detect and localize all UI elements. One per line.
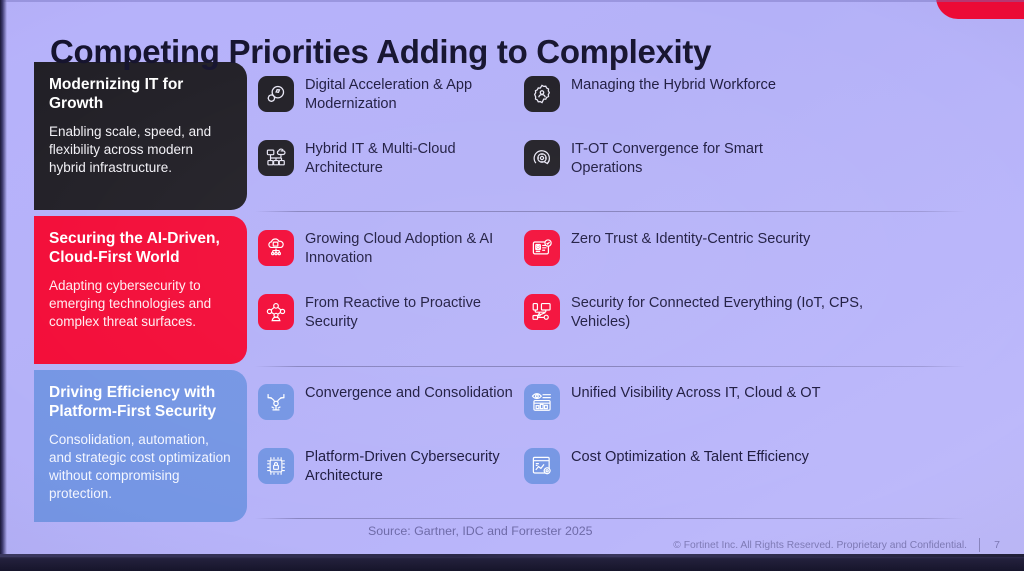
list-item[interactable]: From Reactive to Proactive Security — [258, 292, 520, 356]
list-item[interactable]: Zero Trust & Identity-Centric Security — [524, 228, 978, 292]
category-panel-title: Securing the AI-Driven, Cloud-First Worl… — [49, 230, 232, 268]
connected-devices-icon — [524, 294, 560, 330]
list-item-label: Hybrid IT & Multi-Cloud Architecture — [305, 138, 520, 178]
category-panel-driving-efficiency[interactable]: Driving Efficiency with Platform-First S… — [34, 370, 247, 522]
category-panel-title: Modernizing IT for Growth — [49, 76, 232, 114]
eye-dashboard-icon — [524, 384, 560, 420]
footer-right-group: © Fortinet Inc. All Rights Reserved. Pro… — [673, 538, 1002, 552]
list-item[interactable]: Growing Cloud Adoption & AI Innovation — [258, 228, 520, 292]
list-item-label: Security for Connected Everything (IoT, … — [571, 292, 871, 332]
gear-orbit-icon — [524, 140, 560, 176]
items-grid-modernizing-it: Digital Acceleration & App Modernization… — [258, 74, 978, 202]
network-cloud-icon — [258, 140, 294, 176]
copyright-notice: © Fortinet Inc. All Rights Reserved. Pro… — [673, 540, 967, 551]
list-item[interactable]: Security for Connected Everything (IoT, … — [524, 292, 978, 356]
section-row-driving-efficiency: Driving Efficiency with Platform-First S… — [0, 370, 1024, 522]
list-item-label: Zero Trust & Identity-Centric Security — [571, 228, 810, 249]
list-item-label: Unified Visibility Across IT, Cloud & OT — [571, 382, 821, 403]
section-divider — [255, 211, 965, 212]
category-panel-description: Consolidation, automation, and strategic… — [49, 431, 232, 503]
category-panel-description: Enabling scale, speed, and flexibility a… — [49, 123, 232, 177]
list-item[interactable]: Digital Acceleration & App Modernization — [258, 74, 520, 138]
section-divider — [255, 518, 965, 519]
list-item-label: Cost Optimization & Talent Efficiency — [571, 446, 809, 467]
section-row-modernizing-it: Modernizing IT for Growth Enabling scale… — [0, 62, 1024, 210]
list-item-label: IT-OT Convergence for Smart Operations — [571, 138, 821, 178]
section-divider — [255, 366, 965, 367]
list-item[interactable]: Convergence and Consolidation — [258, 382, 520, 446]
list-item[interactable]: Unified Visibility Across IT, Cloud & OT — [524, 382, 978, 446]
page-number: 7 — [992, 539, 1002, 551]
screen-left-edge — [0, 0, 7, 571]
screen-top-edge — [0, 0, 1024, 2]
list-item-label: Platform-Driven Cybersecurity Architectu… — [305, 446, 520, 486]
screen-bottom-edge — [0, 554, 1024, 571]
list-item[interactable]: Managing the Hybrid Workforce — [524, 74, 978, 138]
category-panel-modernizing-it[interactable]: Modernizing IT for Growth Enabling scale… — [34, 62, 247, 210]
list-item[interactable]: IT-OT Convergence for Smart Operations — [524, 138, 978, 202]
list-item-label: From Reactive to Proactive Security — [305, 292, 520, 332]
footer-divider — [979, 538, 980, 552]
list-item[interactable]: Hybrid IT & Multi-Cloud Architecture — [258, 138, 520, 202]
items-grid-securing-ai: Growing Cloud Adoption & AI Innovation Z… — [258, 228, 978, 356]
page-title: Competing Priorities Adding to Complexit… — [50, 33, 711, 71]
list-item-label: Digital Acceleration & App Modernization — [305, 74, 520, 114]
list-item[interactable]: Cost Optimization & Talent Efficiency — [524, 446, 978, 510]
category-panel-title: Driving Efficiency with Platform-First S… — [49, 384, 232, 422]
gear-people-icon — [524, 76, 560, 112]
rocket-gear-icon — [258, 76, 294, 112]
user-shield-network-icon — [258, 294, 294, 330]
list-item[interactable]: Platform-Driven Cybersecurity Architectu… — [258, 446, 520, 510]
category-panel-securing-ai[interactable]: Securing the AI-Driven, Cloud-First Worl… — [34, 216, 247, 364]
list-item-label: Managing the Hybrid Workforce — [571, 74, 776, 95]
red-accent-tab — [936, 0, 1024, 19]
slide-canvas: Competing Priorities Adding to Complexit… — [0, 0, 1024, 571]
list-item-label: Convergence and Consolidation — [305, 382, 513, 403]
merge-arrows-icon — [258, 384, 294, 420]
section-row-securing-ai: Securing the AI-Driven, Cloud-First Worl… — [0, 216, 1024, 364]
cloud-ai-chip-icon — [258, 230, 294, 266]
items-grid-driving-efficiency: Convergence and Consolidation Uni — [258, 382, 978, 510]
category-panel-description: Adapting cybersecurity to emerging techn… — [49, 277, 232, 331]
id-badge-check-icon — [524, 230, 560, 266]
list-item-label: Growing Cloud Adoption & AI Innovation — [305, 228, 520, 268]
source-citation: Source: Gartner, IDC and Forrester 2025 — [368, 524, 593, 538]
chart-gear-icon — [524, 448, 560, 484]
circuit-lock-icon — [258, 448, 294, 484]
